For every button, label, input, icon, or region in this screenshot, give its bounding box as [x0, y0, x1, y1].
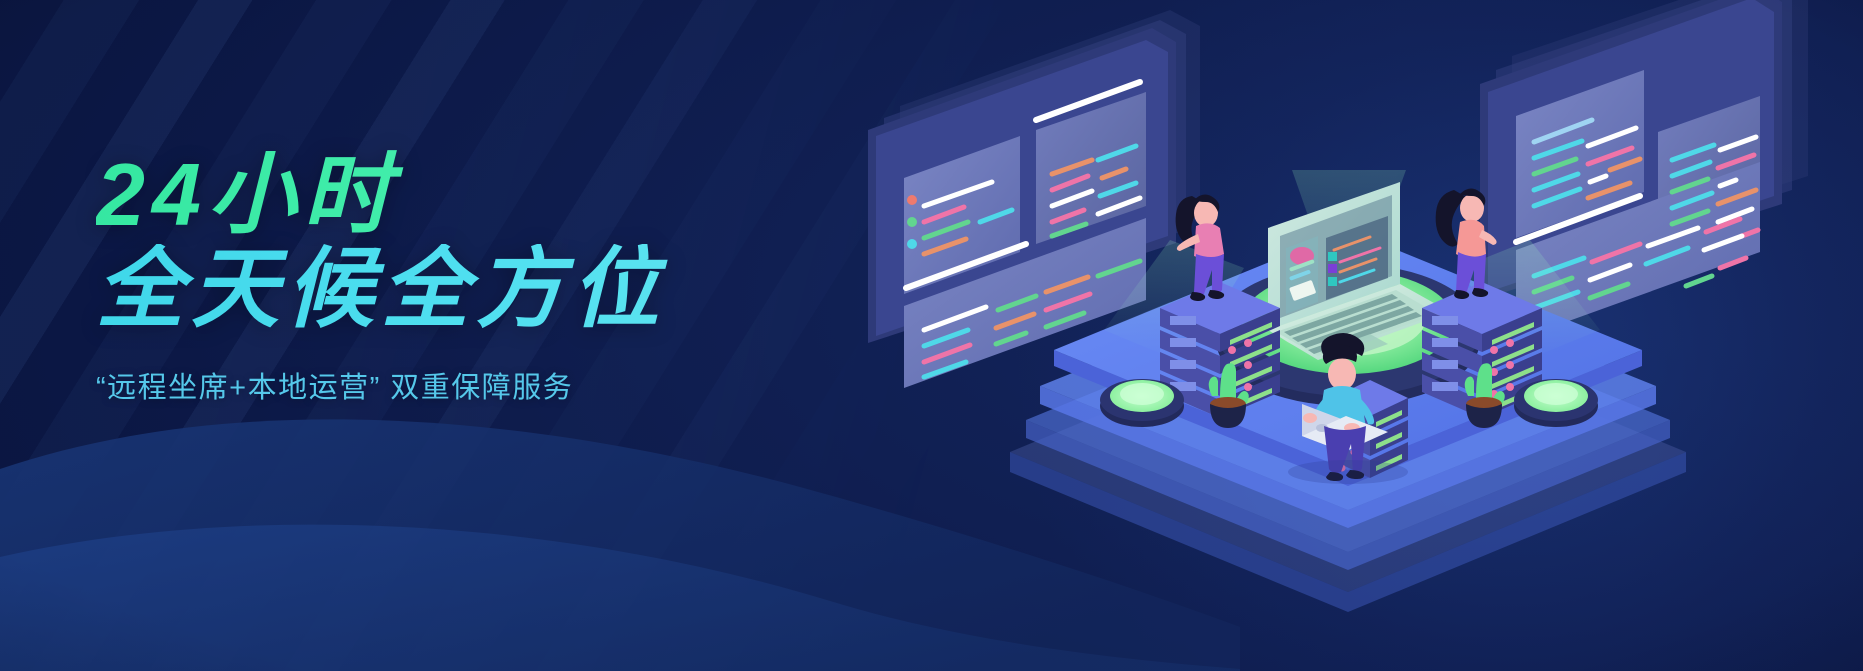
hero-banner: 24小时 全天候全方位 “远程坐席+本地运营” 双重保障服务 [0, 0, 1863, 671]
glow-disc-right [1514, 379, 1598, 427]
isometric-data-center-graphic [840, 0, 1863, 671]
isometric-illustration [840, 0, 1863, 671]
headline-line-1: 24小时 [96, 150, 856, 240]
copy-block: 24小时 全天候全方位 “远程坐席+本地运营” 双重保障服务 [96, 150, 856, 406]
headline-line-2: 全天候全方位 [96, 244, 856, 334]
subtitle-text: “远程坐席+本地运营” 双重保障服务 [96, 364, 856, 406]
glow-disc-left [1100, 379, 1184, 427]
